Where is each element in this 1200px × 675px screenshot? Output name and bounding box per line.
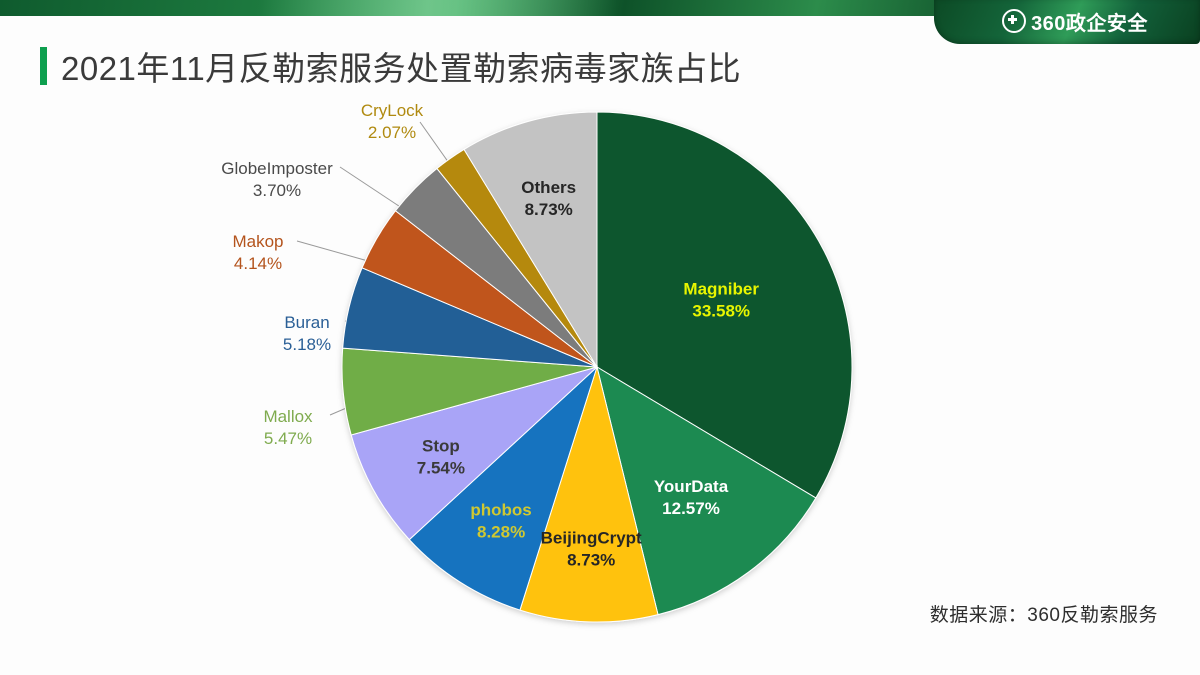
slice-label-name: BeijingCrypt [541,528,642,547]
slice-label-name: phobos [470,501,531,520]
source-note: 数据来源：360反勒索服务 [930,600,1158,627]
slice-label-name: Others [521,178,576,197]
outside-label-name: CryLock [361,101,424,120]
plus-circle-icon [1002,9,1026,33]
outside-label-name: GlobeImposter [221,159,333,178]
slice-label-value: 33.58% [692,302,750,321]
outside-label-value: 5.18% [283,335,331,354]
outside-label-value: 2.07% [368,123,416,142]
outside-label-value: 3.70% [253,181,301,200]
outside-label-name: Mallox [263,407,313,426]
slice-label-name: YourData [654,477,729,496]
pie-chart-svg: Magniber33.58%YourData12.57%BeijingCrypt… [0,92,1200,652]
outside-label-name: Buran [284,313,329,332]
slice-label-value: 7.54% [417,459,465,478]
banner-sheen [260,0,680,16]
pie-chart: Magniber33.58%YourData12.57%BeijingCrypt… [0,92,1200,652]
slice-label-name: Stop [422,437,460,456]
outside-label-value: 5.47% [264,429,312,448]
outside-label-name: Makop [232,232,283,251]
brand-logo: 360政企安全 [934,0,1200,44]
slide-canvas: 360政企安全 2021年11月反勒索服务处置勒索病毒家族占比 Magniber… [0,0,1200,675]
outside-label-value: 4.14% [234,254,282,273]
page-title-text: 2021年11月反勒索服务处置勒索病毒家族占比 [61,42,741,90]
logo-text: 360政企安全 [1031,7,1148,36]
slice-label-value: 8.73% [525,200,573,219]
slice-label-value: 8.73% [567,550,615,569]
page-title: 2021年11月反勒索服务处置勒索病毒家族占比 [40,42,741,90]
title-accent-bar [40,47,47,85]
slice-label-name: Magniber [683,280,759,299]
slice-label-value: 8.28% [477,523,525,542]
slice-label-value: 12.57% [662,499,720,518]
